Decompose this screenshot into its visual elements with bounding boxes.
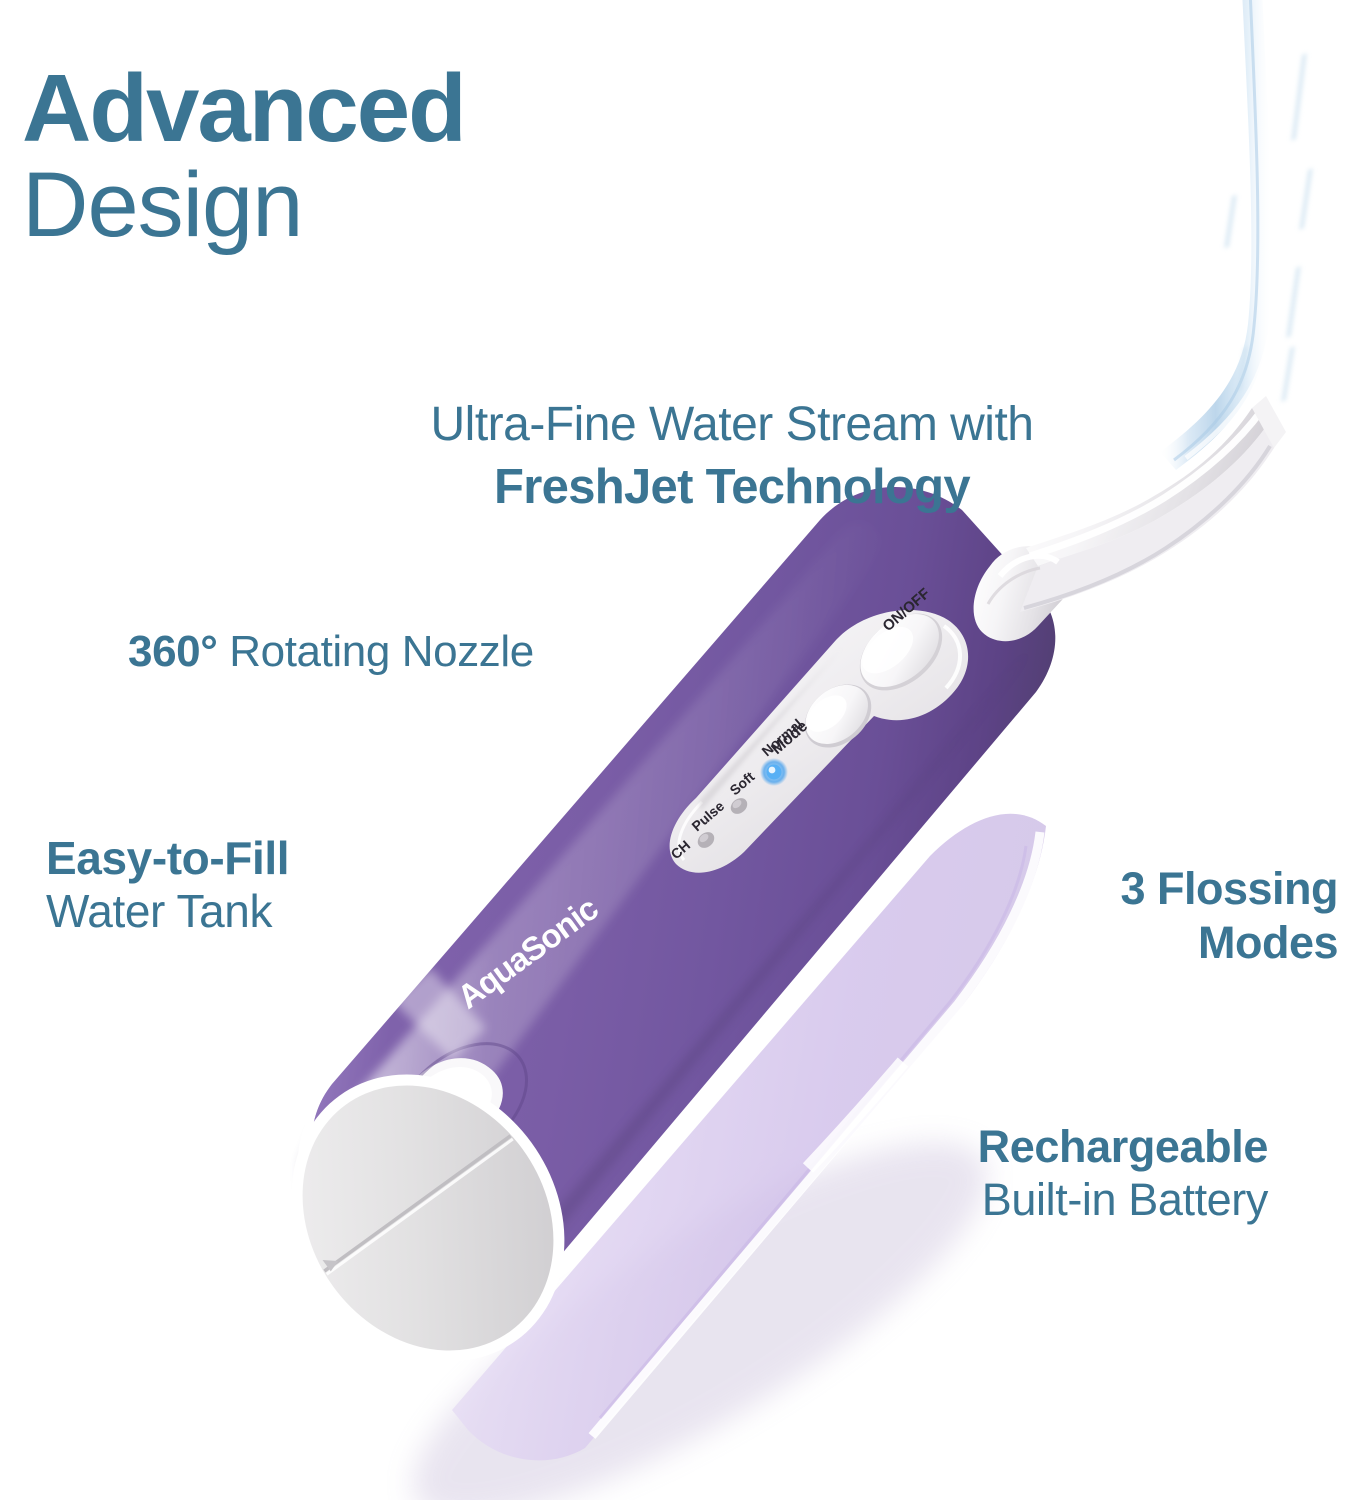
headline-line-1: Advanced xyxy=(22,62,465,156)
subheading-line-2: FreshJet Technology xyxy=(352,460,1112,515)
indicator-pulse-label: Pulse xyxy=(688,798,727,835)
indicator-soft-label: Soft xyxy=(726,768,757,798)
feature-battery-bold: Rechargeable xyxy=(978,1122,1268,1172)
feature-tank-light: Water Tank xyxy=(46,887,289,937)
device-body xyxy=(299,487,1055,1288)
indicator-soft xyxy=(728,795,751,817)
indicator-ch-label: CH xyxy=(667,837,693,862)
indicator-normal-label: Normal xyxy=(758,716,805,760)
page-title: Advanced Design xyxy=(22,62,465,250)
power-button xyxy=(845,598,957,706)
feature-nozzle-bold: 360° xyxy=(128,627,217,676)
water-tank xyxy=(452,814,1046,1461)
feature-nozzle-light: Rotating Nozzle xyxy=(229,627,534,676)
feature-label-water-tank: Easy-to-Fill Water Tank xyxy=(46,834,289,936)
product-feature-graphic: ON/OFF Mode Normal Soft xyxy=(0,0,1346,1500)
feature-battery-light: Built-in Battery xyxy=(978,1175,1268,1225)
control-panel xyxy=(670,610,969,873)
feature-label-nozzle: 360° Rotating Nozzle xyxy=(128,627,534,677)
mode-button-label: Mode xyxy=(768,718,811,758)
device-shadow xyxy=(370,1081,1030,1500)
feature-modes-line-2: Modes xyxy=(1120,918,1338,968)
water-stream-icon xyxy=(1160,0,1313,470)
feature-label-battery: Rechargeable Built-in Battery xyxy=(978,1122,1268,1224)
power-button-label: ON/OFF xyxy=(879,585,933,635)
subheading: Ultra-Fine Water Stream with FreshJet Te… xyxy=(352,398,1112,515)
subheading-line-1: Ultra-Fine Water Stream with xyxy=(352,398,1112,452)
mode-button xyxy=(792,672,883,761)
indicator-pulse xyxy=(695,829,718,851)
tank-release-latch xyxy=(398,1044,526,1162)
indicator-normal xyxy=(760,758,788,786)
feature-modes-line-1: 3 Flossing xyxy=(1120,864,1338,914)
feature-label-flossing-modes: 3 Flossing Modes xyxy=(1120,864,1338,967)
brand-wordmark: AquaSonic xyxy=(450,889,604,1015)
feature-tank-bold: Easy-to-Fill xyxy=(46,834,289,884)
headline-line-2: Design xyxy=(22,160,465,250)
device-end-cap xyxy=(236,1021,621,1416)
